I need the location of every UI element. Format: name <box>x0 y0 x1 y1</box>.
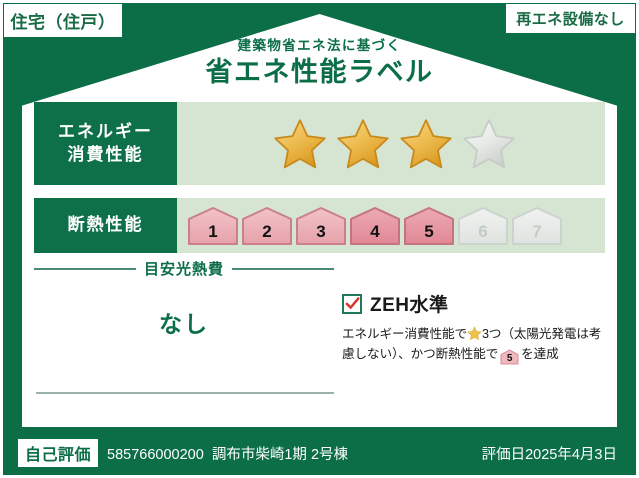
evaluation-type-badge: 自己評価 <box>18 439 98 467</box>
footer-address: 調布市柴崎1期 2号棟 <box>212 447 348 463</box>
star-icon <box>467 326 482 341</box>
house-badge-value: 5 <box>500 349 519 365</box>
insulation-performance-row: 断熱性能 1234567 <box>34 198 605 253</box>
star-icon-filled <box>272 117 328 171</box>
insulation-performance-label: 断熱性能 <box>34 198 177 253</box>
building-type-tag: 住宅（住戸） <box>4 4 122 37</box>
star-icon-filled <box>398 117 454 171</box>
zeh-standard-block: ZEH水準 エネルギー消費性能で3つ（太陽光発電は考慮しない）、かつ断熱性能で5… <box>342 290 610 365</box>
footer-identifier: 585766000200 調布市柴崎1期 2号棟 <box>107 443 348 464</box>
energy-performance-value <box>177 102 605 185</box>
insulation-grade-value: 1 <box>208 222 217 242</box>
insulation-grade-value: 4 <box>370 222 379 242</box>
utility-cost-value: なし <box>34 305 334 339</box>
zeh-desc-part-1: エネルギー消費性能で <box>342 327 467 341</box>
utility-cost-bottom-divider <box>36 392 334 394</box>
utility-cost-rule-right <box>232 268 334 270</box>
utility-cost-header: 目安光熱費 <box>34 258 334 279</box>
utility-cost-title: 目安光熱費 <box>144 258 224 279</box>
label-footer: 自己評価 585766000200 調布市柴崎1期 2号棟 評価日2025年4月… <box>0 432 639 474</box>
energy-performance-label: 住宅（住戸） 再エネ設備なし 建築物省エネ法に基づく 省エネ性能ラベル エネルギ… <box>0 0 639 478</box>
energy-performance-label-line1: エネルギー <box>58 121 153 144</box>
star-icon-empty <box>461 117 517 171</box>
insulation-grade-value: 5 <box>424 222 433 242</box>
insulation-grade-7: 7 <box>511 206 563 246</box>
insulation-performance-label-text: 断熱性能 <box>68 214 144 237</box>
insulation-grade-3: 3 <box>295 206 347 246</box>
insulation-grade-value: 2 <box>262 222 271 242</box>
zeh-standard-title: ZEH水準 <box>370 290 449 317</box>
insulation-grade-value: 6 <box>478 222 487 242</box>
renewable-energy-tag: 再エネ設備なし <box>506 4 635 33</box>
insulation-grade-1: 1 <box>187 206 239 246</box>
renewable-energy-tag-label: 再エネ設備なし <box>516 8 625 29</box>
zeh-checkbox <box>342 294 362 314</box>
insulation-grade-5: 5 <box>403 206 455 246</box>
energy-performance-label-line2: 消費性能 <box>68 144 144 167</box>
house-badge-icon: 5 <box>500 349 519 365</box>
insulation-grade-value: 7 <box>532 222 541 242</box>
footer-id-number: 585766000200 <box>107 447 204 463</box>
energy-performance-label: エネルギー 消費性能 <box>34 102 177 185</box>
zeh-standard-description: エネルギー消費性能で3つ（太陽光発電は考慮しない）、かつ断熱性能で5を達成 <box>342 324 610 365</box>
building-type-tag-label: 住宅（住戸） <box>11 8 116 33</box>
zeh-desc-part-3: を達成 <box>521 347 558 361</box>
evaluation-date: 評価日2025年4月3日 <box>482 443 617 464</box>
insulation-grade-value: 3 <box>316 222 325 242</box>
insulation-grade-2: 2 <box>241 206 293 246</box>
utility-cost-rule-left <box>34 268 136 270</box>
star-icon-filled <box>335 117 391 171</box>
check-icon <box>345 296 360 311</box>
insulation-grade-6: 6 <box>457 206 509 246</box>
energy-performance-row: エネルギー 消費性能 <box>34 102 605 185</box>
insulation-grade-scale: 1234567 <box>187 206 563 246</box>
insulation-performance-value: 1234567 <box>177 198 605 253</box>
star-rating <box>272 117 517 171</box>
zeh-standard-header: ZEH水準 <box>342 290 610 317</box>
insulation-grade-4: 4 <box>349 206 401 246</box>
